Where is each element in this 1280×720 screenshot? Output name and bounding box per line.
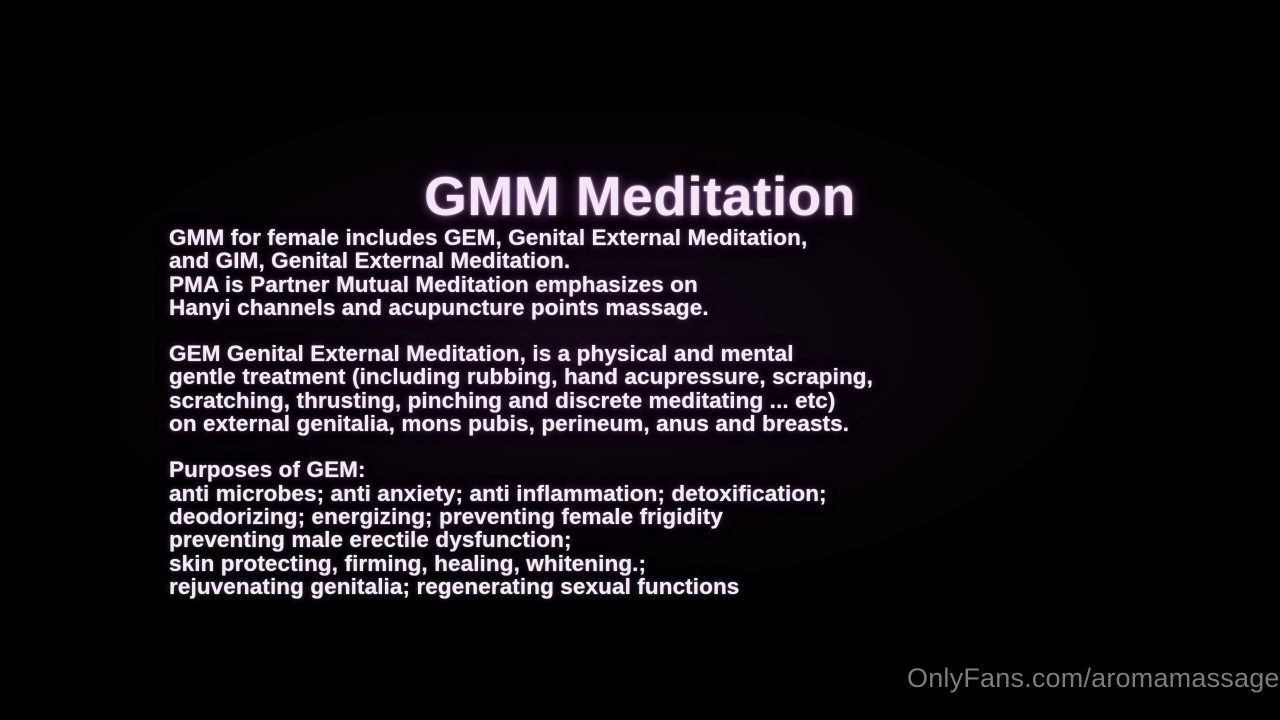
- text-line: PMA is Partner Mutual Meditation emphasi…: [169, 273, 1169, 296]
- paragraph-intro: GMM for female includes GEM, Genital Ext…: [169, 226, 1169, 319]
- page-title: GMM Meditation: [0, 164, 1280, 228]
- text-line: anti microbes; anti anxiety; anti inflam…: [169, 482, 1169, 505]
- text-line: gentle treatment (including rubbing, han…: [169, 365, 1169, 388]
- text-line: GEM Genital External Meditation, is a ph…: [169, 342, 1169, 365]
- slide-canvas: GMM Meditation GMM for female includes G…: [0, 0, 1280, 720]
- text-line: preventing male erectile dysfunction;: [169, 528, 1169, 551]
- watermark: OnlyFans.com/aromamassage: [907, 663, 1280, 694]
- text-line: rejuvenating genitalia; regenerating sex…: [169, 575, 1169, 598]
- text-line: deodorizing; energizing; preventing fema…: [169, 505, 1169, 528]
- text-line: GMM for female includes GEM, Genital Ext…: [169, 226, 1169, 249]
- text-line: and GIM, Genital External Meditation.: [169, 249, 1169, 272]
- body-text-block: GMM for female includes GEM, Genital Ext…: [169, 226, 1169, 598]
- text-line: on external genitalia, mons pubis, perin…: [169, 412, 1169, 435]
- text-line: skin protecting, firming, healing, white…: [169, 552, 1169, 575]
- paragraph-gem-definition: GEM Genital External Meditation, is a ph…: [169, 342, 1169, 435]
- text-line: Hanyi channels and acupuncture points ma…: [169, 296, 1169, 319]
- purposes-heading: Purposes of GEM:: [169, 458, 1169, 481]
- paragraph-gem-purposes: Purposes of GEM: anti microbes; anti anx…: [169, 458, 1169, 598]
- text-line: scratching, thrusting, pinching and disc…: [169, 389, 1169, 412]
